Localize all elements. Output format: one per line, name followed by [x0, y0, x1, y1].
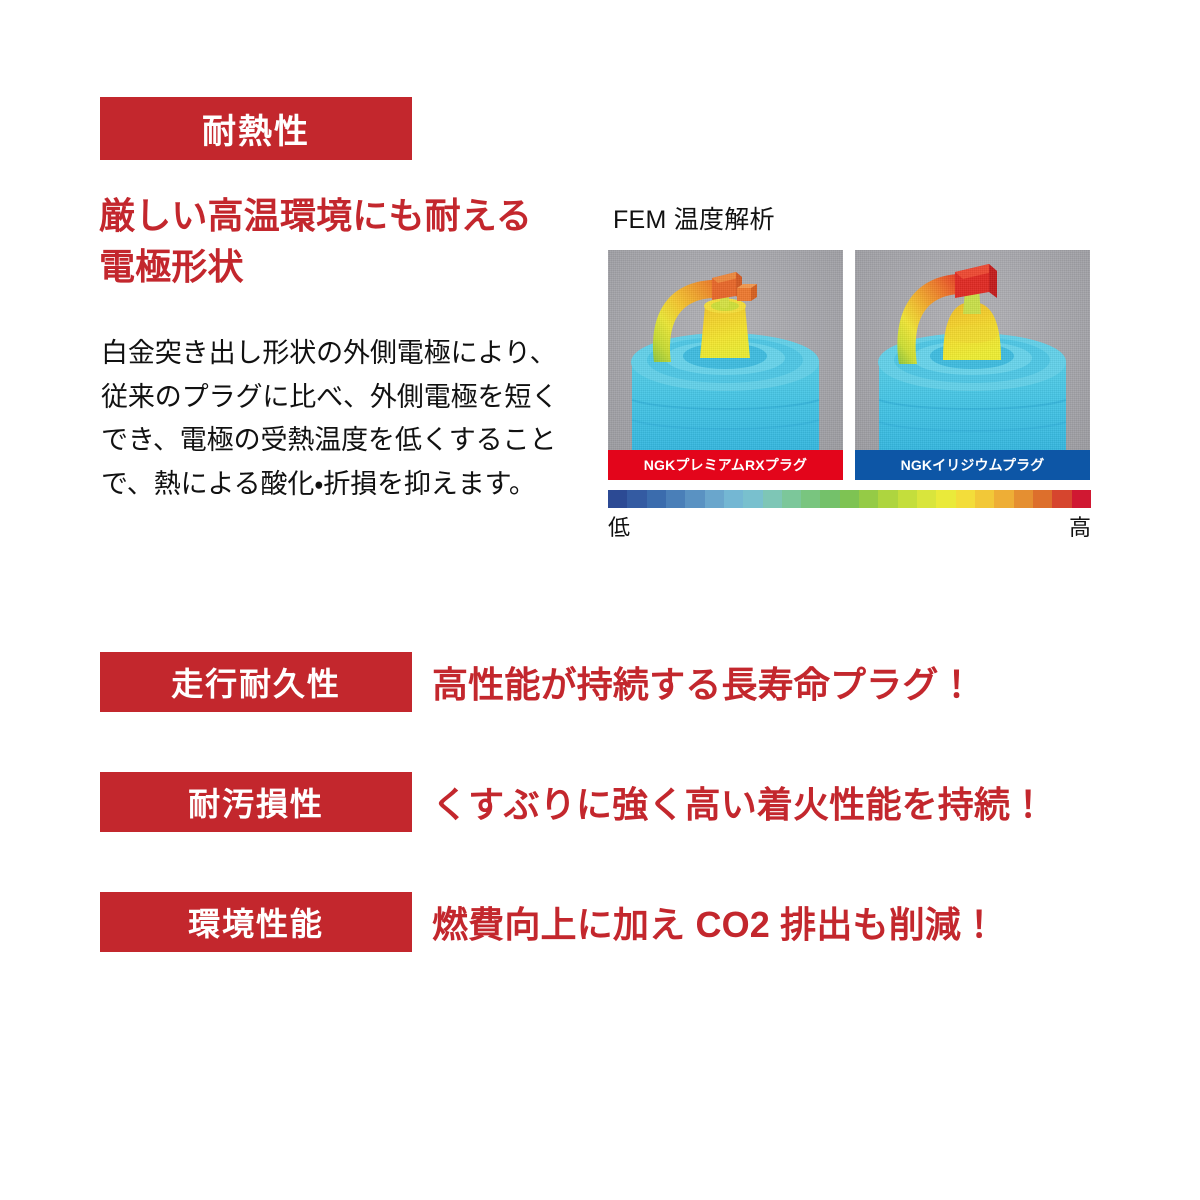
scale-swatch-18	[956, 490, 975, 508]
fem-analysis-title: FEM 温度解析	[613, 200, 1091, 236]
scale-swatch-3	[666, 490, 685, 508]
scale-swatch-24	[1072, 490, 1091, 508]
temperature-color-scale-bar	[608, 490, 1091, 508]
fem-thermal-image-iridium	[855, 250, 1090, 450]
fem-caption-premium-rx: NGKプレミアムRXプラグ	[608, 450, 843, 480]
scale-swatch-11	[820, 490, 839, 508]
scale-swatch-10	[801, 490, 820, 508]
feature-text-environmental: 燃費向上に加え CO2 排出も削減！	[432, 896, 997, 948]
scale-swatch-12	[840, 490, 859, 508]
scale-swatch-19	[975, 490, 994, 508]
section-heat-badge-label: 耐熱性	[202, 104, 310, 153]
scale-swatch-22	[1033, 490, 1052, 508]
fem-panel-premium-rx: NGKプレミアムRXプラグ	[608, 250, 843, 480]
scale-low-label: 低	[608, 510, 630, 542]
scale-swatch-8	[763, 490, 782, 508]
feature-text-durability: 高性能が持続する長寿命プラグ！	[432, 656, 975, 708]
fem-thermal-image-premium-rx	[608, 250, 843, 450]
scale-swatch-23	[1052, 490, 1071, 508]
feature-badge-label: 走行耐久性	[171, 659, 341, 705]
scale-swatch-20	[994, 490, 1013, 508]
scale-swatch-17	[936, 490, 955, 508]
scale-swatch-7	[743, 490, 762, 508]
scale-swatch-9	[782, 490, 801, 508]
scale-swatch-15	[898, 490, 917, 508]
feature-badge-label: 環境性能	[188, 899, 324, 945]
scale-swatch-21	[1014, 490, 1033, 508]
feature-badge-durability: 走行耐久性	[100, 652, 412, 712]
temperature-scale-labels: 低 高	[608, 510, 1091, 542]
feature-row-environmental: 環境性能 燃費向上に加え CO2 排出も削減！	[100, 892, 997, 952]
feature-badge-environmental: 環境性能	[100, 892, 412, 952]
section-heat-heading: 厳しい高温環境にも耐える 電極形状	[99, 190, 579, 292]
feature-badge-label: 耐汚損性	[188, 779, 324, 825]
feature-badge-fouling-resistance: 耐汚損性	[100, 772, 412, 832]
scale-swatch-2	[647, 490, 666, 508]
feature-row-fouling-resistance: 耐汚損性 くすぶりに強く高い着火性能を持続！	[100, 772, 1046, 832]
scale-swatch-6	[724, 490, 743, 508]
scale-swatch-4	[685, 490, 704, 508]
section-heat-body-text: 白金突き出し形状の外側電極により、従来のプラグに比べ、外側電極を短くでき、電極の…	[101, 332, 581, 507]
section-heat-badge: 耐熱性	[100, 97, 412, 160]
fem-panel-iridium: NGKイリジウムプラグ	[855, 250, 1090, 480]
scale-swatch-16	[917, 490, 936, 508]
scale-high-label: 高	[1069, 510, 1091, 542]
scale-swatch-1	[627, 490, 646, 508]
fem-panel-pair: NGKプレミアムRXプラグ	[608, 250, 1091, 480]
fem-analysis-block: FEM 温度解析	[608, 200, 1091, 542]
fem-caption-iridium: NGKイリジウムプラグ	[855, 450, 1090, 480]
scale-swatch-14	[878, 490, 897, 508]
feature-text-fouling-resistance: くすぶりに強く高い着火性能を持続！	[432, 776, 1046, 828]
scale-swatch-13	[859, 490, 878, 508]
scale-swatch-5	[705, 490, 724, 508]
spark-plug-thermal-render-hot	[855, 250, 1090, 450]
feature-row-durability: 走行耐久性 高性能が持続する長寿命プラグ！	[100, 652, 975, 712]
spark-plug-thermal-render-cool	[608, 250, 843, 450]
scale-swatch-0	[608, 490, 627, 508]
